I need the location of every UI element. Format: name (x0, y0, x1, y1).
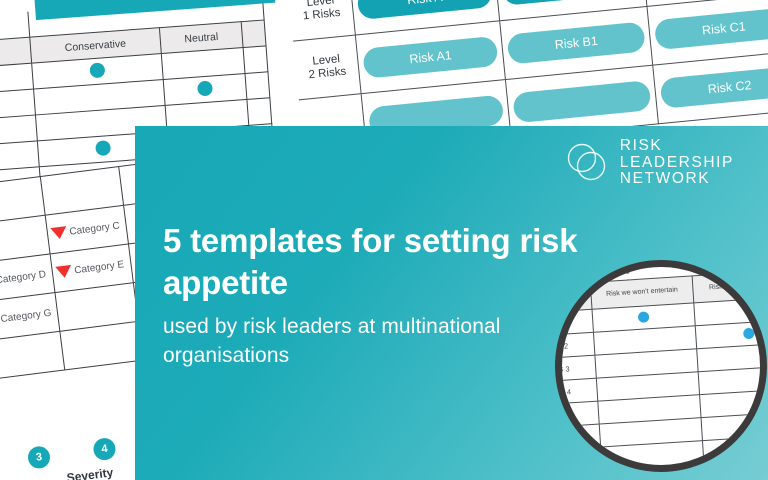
category-label: Category E (74, 259, 125, 276)
selection-dot (743, 327, 755, 339)
risk-pill (513, 80, 652, 123)
risk-pill: Risk C2 (659, 66, 768, 109)
selection-dot (197, 80, 213, 96)
triangle-down-icon (50, 226, 67, 240)
category-label: Category D (0, 269, 47, 286)
posture-cell (245, 72, 270, 100)
overlapping-circles-icon (565, 141, 611, 185)
page-title: 5 templates for setting risk appetite (163, 220, 583, 303)
matrix-cell (59, 321, 143, 370)
category-marker-c: Category C (50, 219, 123, 240)
category-marker-d: Category D (0, 268, 49, 289)
risk-pill: Risk B1 (507, 21, 646, 64)
axis-number-4: 4 (92, 437, 117, 462)
category-label: Category G (0, 307, 52, 324)
magnifier-lens: principal risks statements Risk we won't… (555, 260, 767, 472)
slide-canvas: “risk posture” rather than appetite Risk… (0, 0, 768, 480)
magnifier-table: statements Risk we won't entertain Risks… (555, 268, 767, 472)
hero-copy: 5 templates for setting risk appetite us… (163, 220, 583, 370)
logo-line-1: RISK (620, 138, 734, 155)
selection-dot (89, 62, 105, 78)
risk-pill: Risk A1 (362, 36, 499, 79)
levels-row-label-2: Level2 Risks (293, 35, 361, 100)
category-label: Category C (69, 220, 121, 237)
hero-panel: RISK LEADERSHIP NETWORK 5 templates for … (135, 126, 768, 480)
mag-row-label: RAS 6 (555, 424, 600, 450)
selection-dot (638, 311, 650, 323)
risk-pill: Risk C1 (654, 7, 768, 50)
mag-row-label (555, 447, 602, 472)
mag-col-mostly-avoid: Risks we'll mostly avoid (692, 269, 767, 303)
selection-dot (95, 140, 111, 156)
axis-number-3: 3 (27, 445, 52, 470)
matrix-axis-scale: 3 4 (27, 437, 117, 470)
selection-dot (749, 419, 761, 431)
category-marker-e: Category E (55, 258, 128, 279)
brand-logo: RISK LEADERSHIP NETWORK (565, 138, 734, 188)
matrix-axis-label: Severity (66, 465, 114, 480)
posture-col-extra (241, 20, 266, 48)
risk-pill: Risk B (501, 0, 640, 6)
category-marker-g: Category G (0, 306, 54, 327)
logo-line-2: LEADERSHIP (620, 155, 734, 172)
posture-cell (243, 46, 268, 74)
brand-logo-text: RISK LEADERSHIP NETWORK (620, 138, 734, 188)
posture-cell (247, 98, 272, 126)
risk-pill: Risk A (356, 0, 493, 20)
logo-line-3: NETWORK (620, 171, 734, 188)
matrix-cell (0, 331, 64, 380)
page-subtitle: used by risk leaders at multinational or… (163, 313, 583, 370)
triangle-down-icon (55, 265, 72, 279)
